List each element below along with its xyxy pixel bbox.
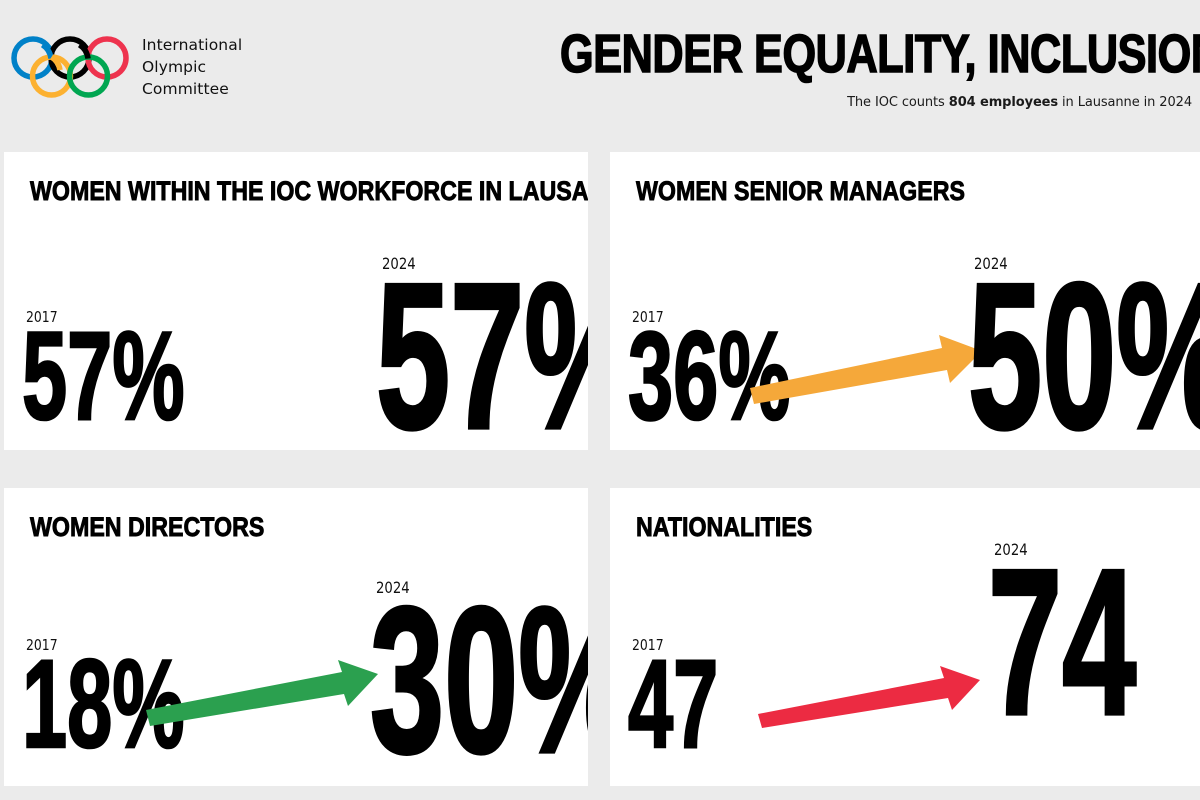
subtitle-highlight: 804 employees <box>949 95 1058 110</box>
page-subtitle: The IOC counts 804 employees in Lausanne… <box>402 95 1192 110</box>
ioc-logo-text: International Olympic Committee <box>142 32 242 100</box>
olympic-rings-icon <box>10 32 130 104</box>
card-title: WOMEN SENIOR MANAGERS <box>636 178 965 205</box>
logo-line-2: Olympic <box>142 56 242 78</box>
page-header: International Olympic Committee GENDER E… <box>0 0 1200 150</box>
stat-from-value-group: 2017 57% <box>22 310 254 419</box>
subtitle-prefix: The IOC counts <box>847 95 949 110</box>
stat-from-value-group: 2017 47 <box>628 638 757 747</box>
to-value: 30% <box>370 598 588 764</box>
page-title: GENDER EQUALITY, INCLUSION & DIVERSITY <box>560 28 1192 81</box>
logo-line-1: International <box>142 34 242 56</box>
to-value: 74 <box>988 560 1136 726</box>
stat-card-women-senior-managers: WOMEN SENIOR MANAGERS 2017 36% 2024 50% <box>610 152 1200 450</box>
stat-card-women-workforce: WOMEN WITHIN THE IOC WORKFORCE IN LAUSAN… <box>4 152 588 450</box>
subtitle-suffix: in Lausanne in 2024 <box>1058 95 1192 110</box>
stat-to-value-group: 2024 57% <box>376 256 588 431</box>
card-title: WOMEN DIRECTORS <box>30 514 264 541</box>
stat-to-value-group: 2024 30% <box>370 580 588 755</box>
ioc-logo: International Olympic Committee <box>10 32 242 104</box>
stats-card-grid: WOMEN WITHIN THE IOC WORKFORCE IN LAUSAN… <box>0 152 1200 800</box>
card-title: NATIONALITIES <box>636 514 812 541</box>
stat-card-nationalities: NATIONALITIES 2017 47 2024 74 <box>610 488 1200 786</box>
card-title: WOMEN WITHIN THE IOC WORKFORCE IN LAUSAN… <box>30 178 588 205</box>
stat-to-value-group: 2024 50% <box>968 256 1200 431</box>
title-block: GENDER EQUALITY, INCLUSION & DIVERSITY T… <box>402 28 1192 110</box>
logo-line-3: Committee <box>142 78 242 100</box>
trend-arrow-red-icon <box>758 666 980 728</box>
trend-arrow-green-icon <box>146 660 378 726</box>
from-value: 57% <box>22 326 185 426</box>
to-value: 50% <box>968 274 1200 440</box>
from-value: 47 <box>628 654 718 754</box>
stat-card-women-directors: WOMEN DIRECTORS 2017 18% 2024 30% <box>4 488 588 786</box>
stat-to-value-group: 2024 74 <box>988 542 1200 717</box>
trend-arrow-orange-icon <box>750 334 982 404</box>
to-value: 57% <box>376 274 588 440</box>
